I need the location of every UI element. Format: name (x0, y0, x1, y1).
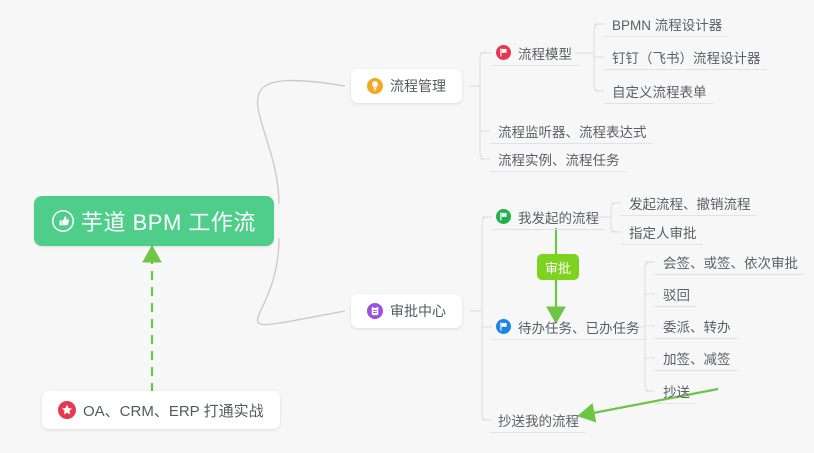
node-cc-to-me-process[interactable]: 抄送我的流程 (490, 407, 585, 433)
node-label: 委派、转办 (663, 316, 731, 336)
node-label: 指定人审批 (629, 222, 697, 242)
star-icon (58, 401, 76, 419)
edge-model-spine (594, 24, 600, 91)
node-label: 发起流程、撤销流程 (629, 193, 751, 213)
branch-approval-center[interactable]: 审批中心 (351, 294, 462, 328)
edge-ac-spine (482, 217, 488, 420)
node-my-started-process[interactable]: 我发起的流程 (492, 204, 605, 230)
branch-process-management[interactable]: 流程管理 (351, 69, 462, 103)
node-label: 自定义流程表单 (612, 81, 707, 101)
bottom-note-label: OA、CRM、ERP 打通实战 (83, 400, 264, 421)
node-label: 待办任务、已办任务 (518, 317, 640, 337)
node-bpmn-designer[interactable]: BPMN 流程设计器 (604, 11, 728, 37)
lightbulb-icon (367, 78, 383, 94)
node-label: 驳回 (663, 284, 690, 304)
root-node[interactable]: 芋道 BPM 工作流 (34, 196, 274, 246)
node-label: 抄送 (663, 381, 690, 401)
edge-todo-spine (645, 262, 651, 391)
root-label: 芋道 BPM 工作流 (81, 205, 256, 237)
node-dingtalk-designer[interactable]: 钉钉（飞书）流程设计器 (604, 44, 767, 70)
flag-icon (496, 209, 511, 224)
mindmap-canvas: 芋道 BPM 工作流 流程管理 流程模型 BPMN 流程设计器 钉钉 (0, 0, 814, 453)
node-label: 流程实例、流程任务 (498, 149, 620, 169)
node-label: 抄送我的流程 (498, 410, 579, 430)
node-label: 流程监听器、流程表达式 (498, 121, 647, 141)
edge-root-to-approval-center (258, 238, 345, 325)
flag-icon (496, 45, 511, 60)
node-start-cancel-process[interactable]: 发起流程、撤销流程 (621, 190, 757, 216)
node-todo-done-tasks[interactable]: 待办任务、已办任务 (492, 314, 646, 340)
node-label: 钉钉（飞书）流程设计器 (612, 47, 761, 67)
arrow-cc-to-cc-process (588, 389, 718, 414)
node-label: 加签、减签 (663, 348, 731, 368)
node-label: BPMN 流程设计器 (612, 14, 722, 34)
node-process-listener[interactable]: 流程监听器、流程表达式 (490, 118, 653, 144)
bottom-note[interactable]: OA、CRM、ERP 打通实战 (42, 391, 280, 429)
node-label: 流程模型 (518, 43, 572, 63)
node-label: 会签、或签、依次审批 (663, 252, 798, 272)
node-assignee-approval[interactable]: 指定人审批 (621, 219, 703, 245)
node-delegate-transfer[interactable]: 委派、转办 (655, 313, 737, 339)
branch-label: 流程管理 (390, 76, 446, 96)
node-process-model[interactable]: 流程模型 (492, 40, 578, 66)
node-add-remove-sign[interactable]: 加签、减签 (655, 345, 737, 371)
flag-icon (496, 319, 511, 334)
clipboard-icon (367, 303, 383, 319)
node-reject[interactable]: 驳回 (655, 281, 696, 307)
edge-pm-spine (480, 52, 486, 159)
edge-myproc-spine (611, 203, 617, 232)
edge-root-to-process-management (258, 81, 345, 204)
node-custom-form[interactable]: 自定义流程表单 (604, 78, 713, 104)
node-cc[interactable]: 抄送 (655, 378, 696, 404)
approval-tag-label: 审批 (545, 258, 571, 277)
node-label: 我发起的流程 (518, 207, 599, 227)
approval-tag: 审批 (537, 254, 579, 280)
node-countersign[interactable]: 会签、或签、依次审批 (655, 249, 804, 275)
node-process-instance[interactable]: 流程实例、流程任务 (490, 146, 626, 172)
thumbs-up-icon (52, 210, 74, 232)
branch-label: 审批中心 (390, 301, 446, 321)
